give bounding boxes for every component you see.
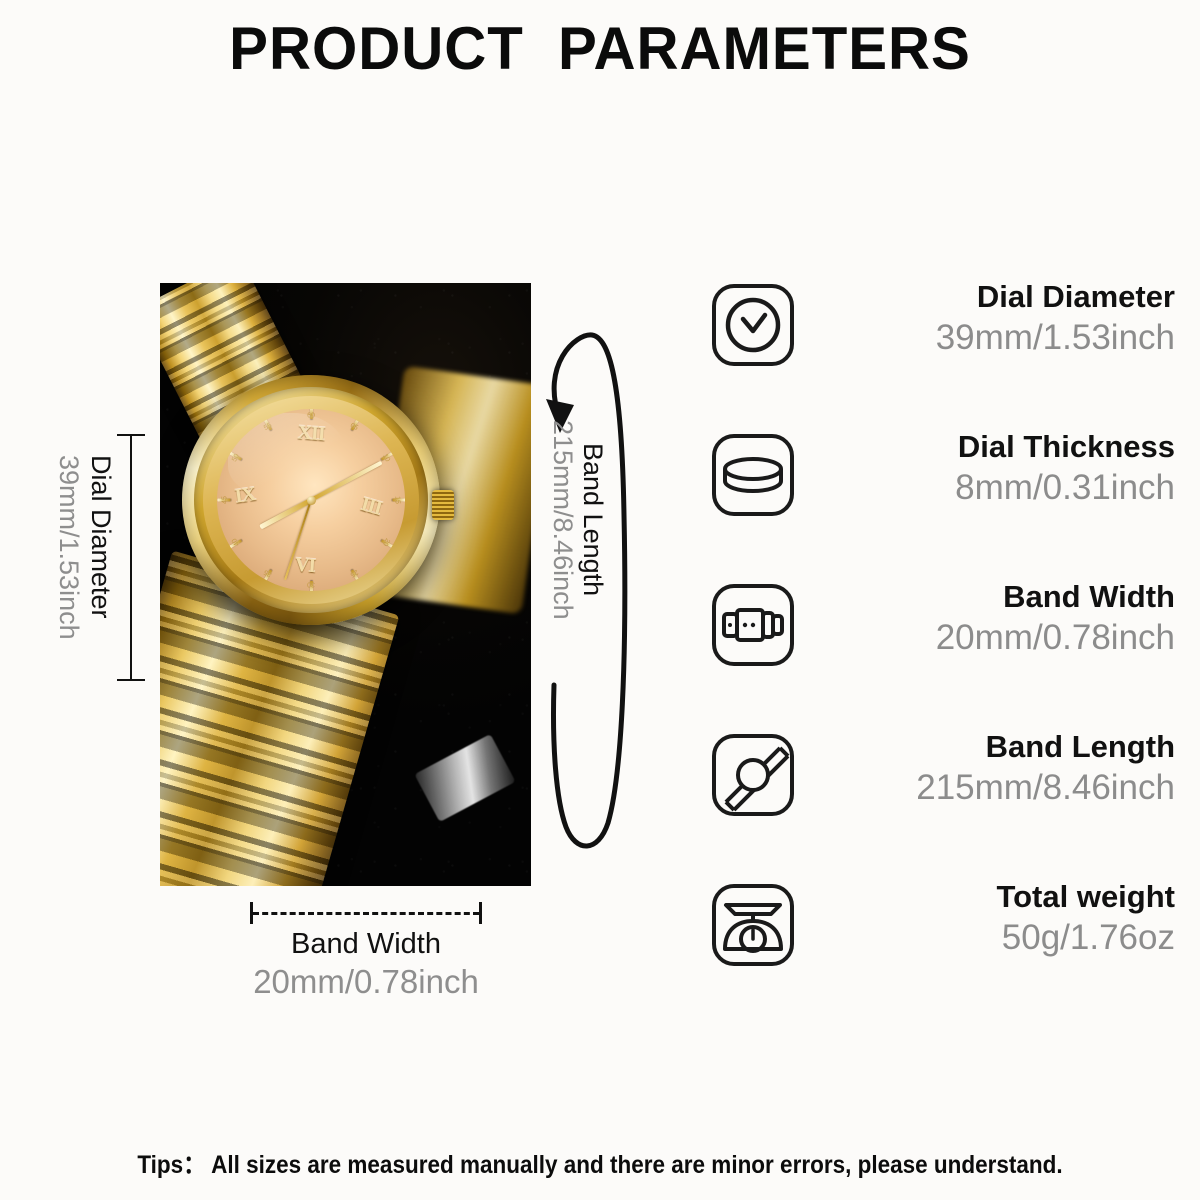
minute-track-number: 50 bbox=[231, 453, 241, 463]
spec-value: 39mm/1.53inch bbox=[815, 317, 1175, 359]
watch-strap-icon bbox=[709, 731, 797, 819]
spec-value: 20mm/0.78inch bbox=[815, 617, 1175, 659]
band-length-dimension-value: 215mm/8.46inch bbox=[547, 420, 578, 620]
minute-track-number: 55 bbox=[263, 423, 273, 433]
watch-case: XIIIIIVIIX 600510152025303540455055 bbox=[182, 375, 440, 625]
spec-text-band-length: Band Length 215mm/8.46inch bbox=[815, 727, 1175, 809]
band-clasp-icon bbox=[709, 581, 797, 669]
spec-label: Band Width bbox=[815, 577, 1175, 617]
band-width-dimension-value: 20mm/0.78inch bbox=[196, 963, 536, 1001]
minute-track-number: 25 bbox=[349, 568, 359, 578]
spec-label: Total weight bbox=[815, 877, 1175, 917]
band-width-dimension-label: Band Width bbox=[196, 928, 536, 961]
dial-diameter-dimension: Dial Diameter 39mm/1.53inch bbox=[56, 425, 146, 690]
watch-dial: XIIIIIVIIX 600510152025303540455055 bbox=[217, 409, 405, 591]
spec-row-dial-diameter: Dial Diameter 39mm/1.53inch bbox=[700, 275, 1182, 425]
minute-track-number: 20 bbox=[381, 537, 391, 547]
product-parameters-page: PRODUCT PARAMETERS XIIIIIVIIX 6005101520… bbox=[0, 0, 1200, 1200]
minute-track-number: 05 bbox=[349, 423, 359, 433]
dimension-bar-horizontal bbox=[250, 902, 482, 924]
spec-value: 215mm/8.46inch bbox=[815, 767, 1175, 809]
disc-thickness-icon bbox=[709, 431, 797, 519]
minute-track-number: 60 bbox=[307, 413, 315, 420]
dimension-cap-top bbox=[117, 434, 145, 436]
spec-text-dial-thickness: Dial Thickness 8mm/0.31inch bbox=[815, 427, 1175, 509]
dial-diameter-dimension-value: 39mm/1.53inch bbox=[53, 455, 84, 640]
dimension-dashed-line bbox=[253, 912, 479, 915]
dial-diameter-dimension-label: Dial Diameter bbox=[85, 455, 116, 619]
spec-label: Dial Diameter bbox=[815, 277, 1175, 317]
spec-value: 50g/1.76oz bbox=[815, 917, 1175, 959]
spec-text-total-weight: Total weight 50g/1.76oz bbox=[815, 877, 1175, 959]
kitchen-scale-icon bbox=[709, 881, 797, 969]
watch-crown bbox=[432, 490, 454, 520]
dimension-line-vertical bbox=[130, 434, 132, 681]
watch-bezel: XIIIIIVIIX 600510152025303540455055 bbox=[194, 387, 428, 613]
minute-track-number: 15 bbox=[394, 496, 401, 504]
band-length-dimension: Band Length 215mm/8.46inch bbox=[530, 325, 640, 855]
spec-row-band-width: Band Width 20mm/0.78inch bbox=[700, 575, 1182, 725]
page-title: PRODUCT PARAMETERS bbox=[18, 14, 1182, 83]
spec-row-dial-thickness: Dial Thickness 8mm/0.31inch bbox=[700, 425, 1182, 575]
watch-chapter-ring: XIIIIIVIIX 600510152025303540455055 bbox=[203, 396, 419, 604]
spec-label: Band Length bbox=[815, 727, 1175, 767]
band-length-dimension-label: Band Length bbox=[577, 443, 608, 596]
spec-text-dial-diameter: Dial Diameter 39mm/1.53inch bbox=[815, 277, 1175, 359]
minute-track-number: 10 bbox=[381, 453, 391, 463]
minute-track-number: 35 bbox=[263, 568, 273, 578]
spec-row-total-weight: Total weight 50g/1.76oz bbox=[700, 875, 1182, 1025]
dimension-cap-bottom bbox=[117, 679, 145, 681]
minute-track-number: 30 bbox=[307, 580, 315, 587]
spec-value: 8mm/0.31inch bbox=[815, 467, 1175, 509]
hands-center-pin bbox=[307, 496, 316, 505]
spec-text-band-width: Band Width 20mm/0.78inch bbox=[815, 577, 1175, 659]
minute-track-number: 45 bbox=[221, 496, 228, 504]
product-photo: XIIIIIVIIX 600510152025303540455055 bbox=[160, 283, 531, 886]
watch-dial-icon bbox=[709, 281, 797, 369]
minute-track-number: 40 bbox=[231, 537, 241, 547]
spec-row-band-length: Band Length 215mm/8.46inch bbox=[700, 725, 1182, 875]
spec-list: Dial Diameter 39mm/1.53inch Dial Thickne… bbox=[700, 275, 1182, 1025]
dimension-cap-right bbox=[479, 902, 482, 924]
spec-label: Dial Thickness bbox=[815, 427, 1175, 467]
footer-tips: Tips： All sizes are measured manually an… bbox=[60, 1145, 1140, 1181]
band-width-dimension: Band Width 20mm/0.78inch bbox=[196, 902, 536, 1001]
